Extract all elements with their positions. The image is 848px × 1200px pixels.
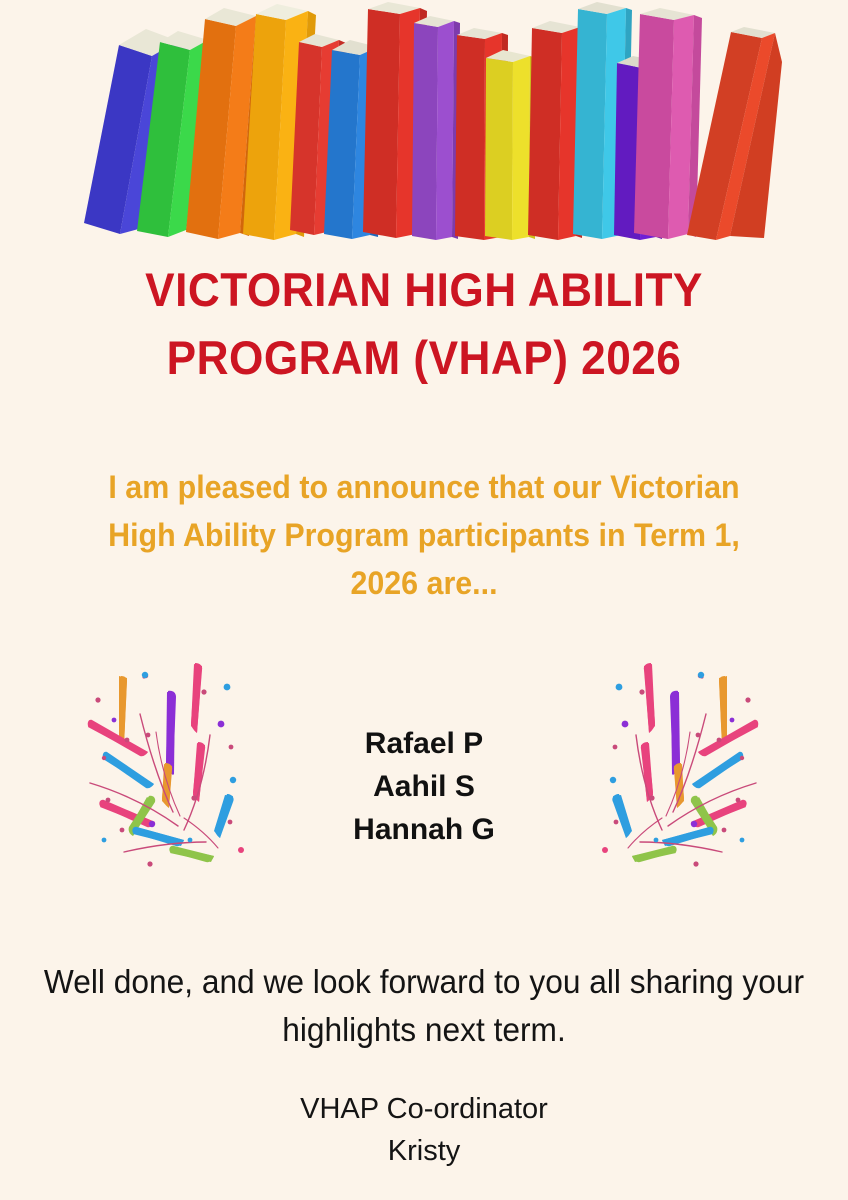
book-15-red-orange xyxy=(687,27,782,240)
firework-burst-icon-right xyxy=(588,640,768,870)
signature: VHAP Co-ordinator Kristy xyxy=(18,1088,830,1172)
signature-name: Kristy xyxy=(18,1130,830,1172)
title-line-1: VICTORIAN HIGH ABILITY xyxy=(25,256,822,324)
participant-name-3: Hannah G xyxy=(264,808,584,851)
signature-role: VHAP Co-ordinator xyxy=(18,1088,830,1130)
participants-section: Rafael P Aahil S Hannah G xyxy=(0,640,848,880)
poster-canvas: VICTORIAN HIGH ABILITY PROGRAM (VHAP) 20… xyxy=(0,0,848,1200)
participant-names-list: Rafael P Aahil S Hannah G xyxy=(264,722,584,851)
title-line-2: PROGRAM (VHAP) 2026 xyxy=(25,324,822,392)
subtitle-line-1: I am pleased to announce that our Victor… xyxy=(59,463,789,511)
closing-line-1: Well done, and we look forward to you al… xyxy=(34,958,814,1006)
closing-line-2: highlights next term. xyxy=(34,1006,814,1054)
poster-subtitle: I am pleased to announce that our Victor… xyxy=(40,463,808,607)
subtitle-line-2: High Ability Program participants in Ter… xyxy=(59,511,789,559)
participant-name-1: Rafael P xyxy=(264,722,584,765)
participant-name-2: Aahil S xyxy=(264,765,584,808)
closing-message: Well done, and we look forward to you al… xyxy=(18,958,830,1054)
subtitle-line-3: 2026 are... xyxy=(59,559,789,607)
books-banner-image xyxy=(0,0,848,240)
book-14-pink xyxy=(634,8,702,239)
book-8-purple xyxy=(412,16,460,240)
book-10-yellow xyxy=(485,50,536,240)
poster-title: VICTORIAN HIGH ABILITY PROGRAM (VHAP) 20… xyxy=(0,256,848,392)
firework-burst-icon-left xyxy=(78,640,258,870)
